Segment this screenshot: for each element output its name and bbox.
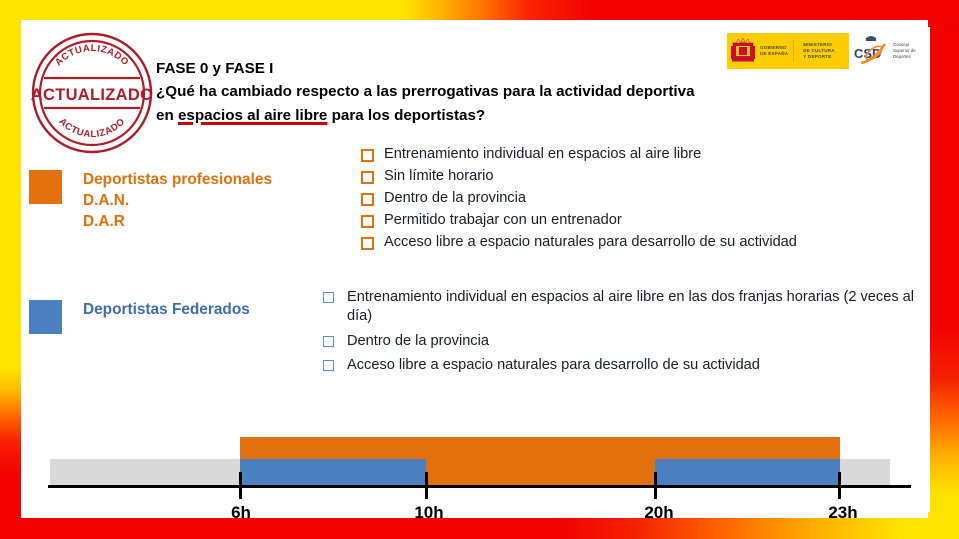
- ministerio-line2: DE CULTURA: [803, 48, 835, 53]
- ministerio-label: MINISTERIODE CULTURAY DEPORTE: [803, 42, 835, 61]
- spain-coat-of-arms-icon: [730, 36, 756, 66]
- content-card: ACTUALIZADO ACTUALIZADO ACTUALIZADO: [21, 20, 928, 518]
- checkbox-icon: [361, 149, 374, 162]
- list-item-label: Dentro de la provincia: [384, 189, 921, 208]
- list-item: Acceso libre a espacio naturales para de…: [323, 356, 921, 375]
- timeline-label-6h: 6h: [231, 503, 251, 518]
- legend-label-professional: Deportistas profesionales D.A.N. D.A.R: [83, 170, 272, 233]
- checkbox-icon: [323, 360, 334, 371]
- checkbox-icon: [361, 237, 374, 250]
- title-question-line2-post: para los deportistas?: [327, 107, 485, 124]
- stamp-arc-bottom-text: ACTUALIZADO: [57, 116, 128, 140]
- stamp-arc-top-text: ACTUALIZADO: [53, 43, 131, 68]
- timeline-label-10h: 10h: [414, 503, 443, 518]
- checkbox-icon: [361, 215, 374, 228]
- timeline-label-23h: 23h: [828, 503, 857, 518]
- logo-group: GOBIERNODE ESPAÑA MINISTERIODE CULTURAY …: [727, 32, 923, 70]
- legend-professional-line1: Deportistas profesionales: [83, 170, 272, 191]
- list-item: Dentro de la provincia: [323, 332, 921, 351]
- timeline-axis: [48, 485, 911, 488]
- title-question-line1: ¿Qué ha cambiado respecto a las prerroga…: [156, 83, 695, 100]
- legend-swatch-professional: [29, 170, 62, 204]
- timeline-tick-23h: [838, 472, 841, 499]
- checkbox-icon: [323, 292, 334, 303]
- timeline-bar-federated-morning: [240, 459, 426, 485]
- legend-item-federated: Deportistas Federados: [29, 300, 250, 334]
- ministerio-line1: MINISTERIO: [803, 42, 832, 47]
- checkbox-icon: [361, 193, 374, 206]
- list-item-label: Acceso libre a espacio naturales para de…: [384, 233, 921, 252]
- timeline-label-20h: 20h: [644, 503, 673, 518]
- csd-label: ConsejoSuperior deDeportes: [893, 42, 916, 60]
- csd-emblem-icon: CSD: [851, 32, 891, 70]
- list-item-label: Entrenamiento individual en espacios al …: [347, 288, 921, 327]
- actualizado-stamp: ACTUALIZADO ACTUALIZADO ACTUALIZADO: [28, 27, 156, 157]
- checkbox-icon: [361, 171, 374, 184]
- csd-line1: Consejo: [893, 42, 909, 47]
- timeline-tick-20h: [654, 472, 657, 499]
- bullet-list-professional: Entrenamiento individual en espacios al …: [361, 145, 921, 255]
- frame-edge-right: [930, 0, 959, 539]
- list-item-label: Dentro de la provincia: [347, 332, 921, 351]
- title-question-line2-pre: en: [156, 107, 178, 124]
- svg-text:ACTUALIZADO: ACTUALIZADO: [57, 116, 128, 140]
- title-question-emphasis: espacios al aire libre: [178, 107, 327, 124]
- gobierno-line2: DE ESPAÑA: [760, 51, 788, 56]
- timeline-tick-10h: [425, 472, 428, 499]
- slide-container: ACTUALIZADO ACTUALIZADO ACTUALIZADO: [0, 0, 959, 539]
- legend-professional-line3: D.A.R: [83, 212, 272, 233]
- list-item: Entrenamiento individual en espacios al …: [323, 288, 921, 327]
- list-item: Dentro de la provincia: [361, 189, 921, 208]
- gobierno-de-espana-logo: GOBIERNODE ESPAÑA MINISTERIODE CULTURAY …: [727, 33, 849, 69]
- timeline-bar-federated-evening: [655, 459, 840, 485]
- bullet-list-federated: Entrenamiento individual en espacios al …: [323, 288, 921, 381]
- list-item-label: Entrenamiento individual en espacios al …: [384, 145, 921, 164]
- csd-logo: CSD ConsejoSuperior deDeportes: [851, 32, 923, 70]
- legend-label-federated: Deportistas Federados: [83, 300, 250, 321]
- legend-swatch-federated: [29, 300, 62, 334]
- title-phase: FASE 0 y FASE I: [156, 57, 716, 80]
- timeline-chart: 6h 10h 20h 23h: [21, 415, 928, 518]
- list-item: Sin límite horario: [361, 167, 921, 186]
- timeline-tick-6h: [239, 472, 242, 499]
- gobierno-label: GOBIERNODE ESPAÑA: [760, 45, 788, 57]
- svg-text:ACTUALIZADO: ACTUALIZADO: [53, 43, 131, 68]
- list-item: Entrenamiento individual en espacios al …: [361, 145, 921, 164]
- legend-federated-line1: Deportistas Federados: [83, 300, 250, 321]
- stamp-center-text: ACTUALIZADO: [31, 86, 153, 104]
- list-item-label: Sin límite horario: [384, 167, 921, 186]
- page-title: FASE 0 y FASE I ¿Qué ha cambiado respect…: [156, 57, 716, 127]
- list-item-label: Permitido trabajar con un entrenador: [384, 211, 921, 230]
- legend-item-professional: Deportistas profesionales D.A.N. D.A.R: [29, 170, 272, 233]
- csd-line3: Deportes: [893, 54, 911, 59]
- list-item-label: Acceso libre a espacio naturales para de…: [347, 356, 921, 375]
- logo-divider: [793, 40, 794, 62]
- legend-professional-line2: D.A.N.: [83, 191, 272, 212]
- csd-line2: Superior de: [893, 48, 916, 53]
- list-item: Acceso libre a espacio naturales para de…: [361, 233, 921, 252]
- gobierno-line1: GOBIERNO: [760, 45, 787, 50]
- list-item: Permitido trabajar con un entrenador: [361, 211, 921, 230]
- ministerio-line3: Y DEPORTE: [803, 54, 831, 59]
- checkbox-icon: [323, 336, 334, 347]
